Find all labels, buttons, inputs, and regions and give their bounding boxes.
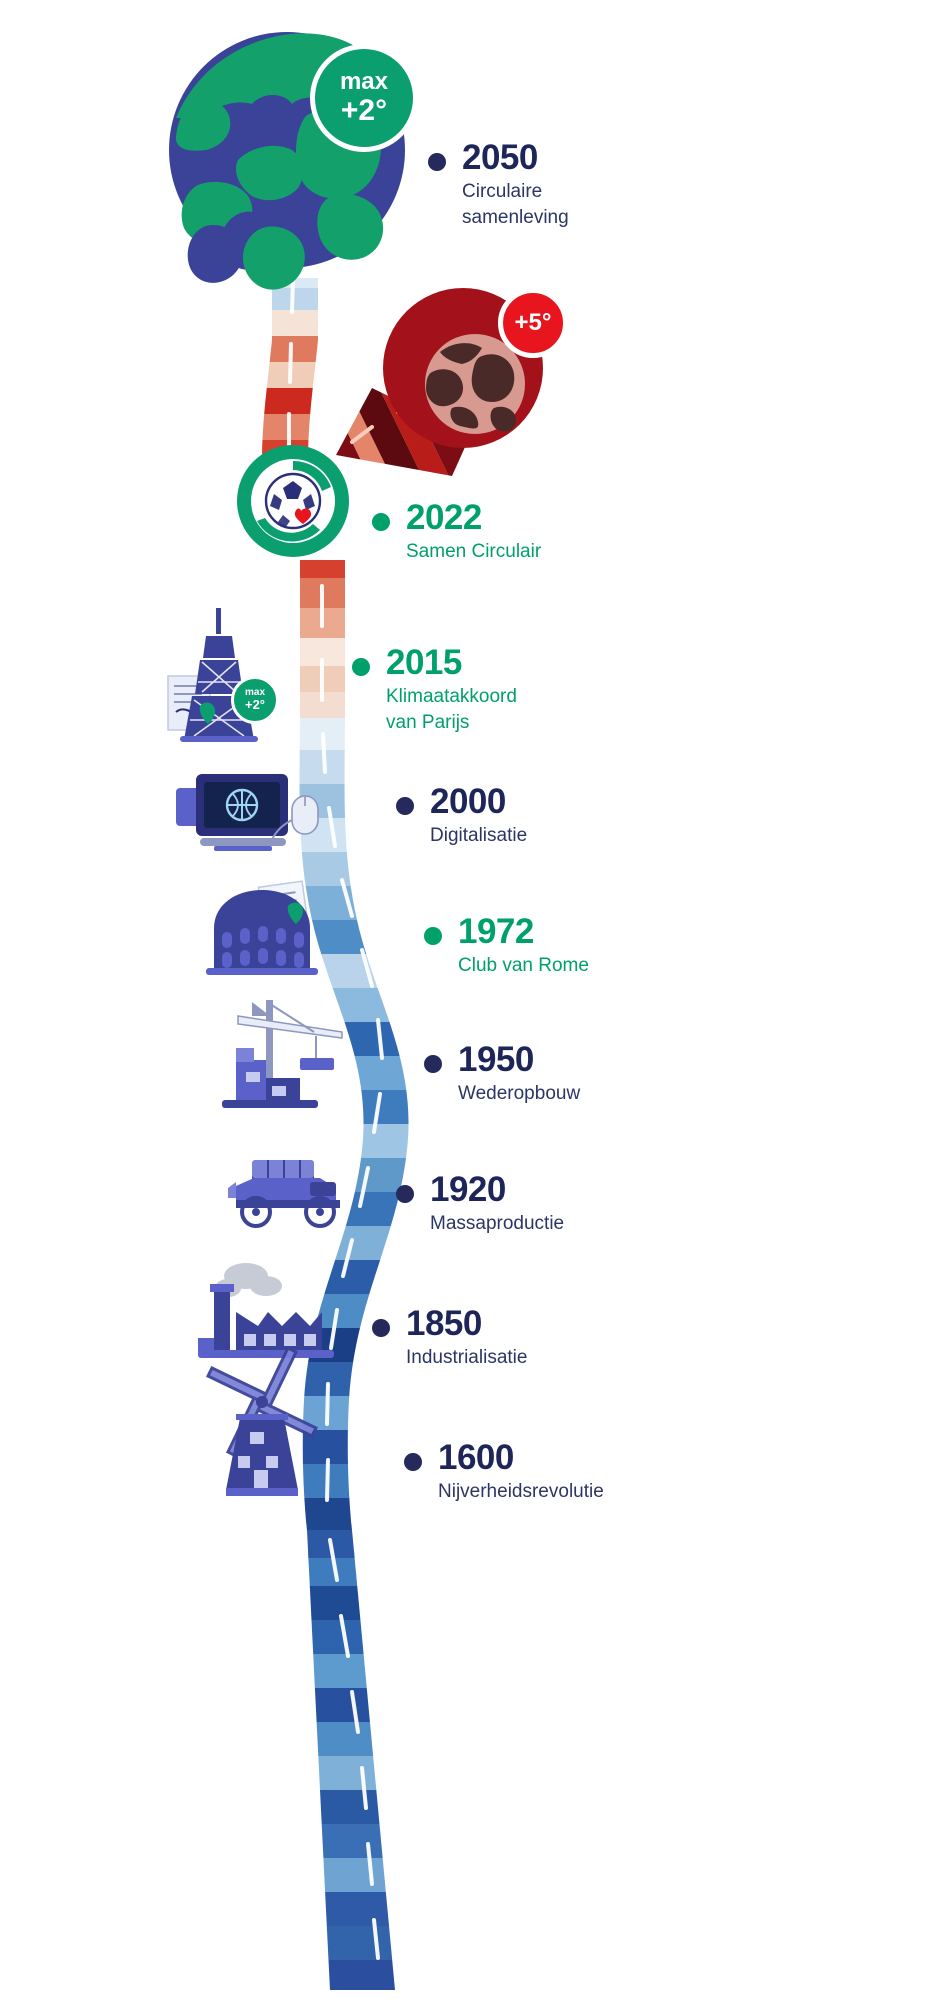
milestone-caption-line2: van Parijs bbox=[386, 711, 517, 734]
milestone-caption-line1: Industrialisatie bbox=[406, 1346, 527, 1369]
milestone-dot bbox=[352, 658, 370, 676]
milestone-year: 1600 bbox=[438, 1440, 604, 1477]
milestone-1920[interactable]: 1920 Massaproductie bbox=[396, 1172, 564, 1235]
badge-max-2-degrees: max +2° bbox=[310, 44, 418, 152]
milestone-year: 2050 bbox=[462, 140, 569, 177]
soccer-ball-heart-logo-icon bbox=[237, 445, 349, 557]
badge-2deg-line2: +2° bbox=[341, 95, 387, 127]
milestone-caption-line1: Circulaire bbox=[462, 180, 569, 203]
milestone-dot bbox=[404, 1453, 422, 1471]
milestone-1950[interactable]: 1950 Wederopbouw bbox=[424, 1042, 580, 1105]
infographic-canvas: max +2° +5° max +2° 2050 Circulaire same… bbox=[0, 0, 933, 2000]
milestone-1600[interactable]: 1600 Nijverheidsrevolutie bbox=[404, 1440, 604, 1503]
milestone-year: 1950 bbox=[458, 1042, 580, 1079]
badge-plus-5-degrees: +5° bbox=[498, 288, 568, 358]
milestone-year: 1920 bbox=[430, 1172, 564, 1209]
milestone-dot bbox=[372, 513, 390, 531]
milestone-year: 2022 bbox=[406, 500, 541, 537]
warming-stripes-road bbox=[0, 0, 933, 2000]
milestone-caption-line1: Klimaatakkoord bbox=[386, 685, 517, 708]
stripe-band-1600-1700 bbox=[280, 1518, 440, 1994]
milestone-year: 1972 bbox=[458, 914, 589, 951]
milestone-caption-line1: Massaproductie bbox=[430, 1212, 564, 1235]
milestone-year: 2000 bbox=[430, 784, 527, 821]
milestone-2000[interactable]: 2000 Digitalisatie bbox=[396, 784, 527, 847]
milestone-caption-line1: Wederopbouw bbox=[458, 1082, 580, 1105]
milestone-dot bbox=[424, 1055, 442, 1073]
computer-monitor-globe-icon bbox=[176, 774, 318, 851]
milestone-caption-line2: samenleving bbox=[462, 206, 569, 229]
milestone-caption-line1: Club van Rome bbox=[458, 954, 589, 977]
vintage-car-icon bbox=[228, 1160, 340, 1226]
colosseum-document-icon bbox=[206, 881, 318, 975]
windmill-icon bbox=[208, 1348, 316, 1496]
milestone-dot bbox=[424, 927, 442, 945]
milestone-2050[interactable]: 2050 Circulaire samenleving bbox=[428, 140, 569, 229]
milestone-2022[interactable]: 2022 Samen Circulair bbox=[372, 500, 541, 563]
milestone-year: 1850 bbox=[406, 1306, 527, 1343]
milestone-caption-line1: Digitalisatie bbox=[430, 824, 527, 847]
badge-mini-line2: +2° bbox=[245, 698, 265, 712]
construction-crane-icon bbox=[222, 1000, 342, 1108]
factory-smokestack-icon bbox=[198, 1263, 334, 1358]
milestone-dot bbox=[372, 1319, 390, 1337]
badge-5deg-label: +5° bbox=[515, 309, 552, 337]
milestone-1972[interactable]: 1972 Club van Rome bbox=[424, 914, 589, 977]
milestone-1850[interactable]: 1850 Industrialisatie bbox=[372, 1306, 527, 1369]
milestone-dot bbox=[396, 797, 414, 815]
milestone-dot bbox=[396, 1185, 414, 1203]
badge-2deg-line1: max bbox=[340, 69, 388, 95]
milestone-2015[interactable]: 2015 Klimaatakkoord van Parijs bbox=[352, 645, 517, 734]
milestone-caption-line1: Nijverheidsrevolutie bbox=[438, 1480, 604, 1503]
milestone-caption-line1: Samen Circulair bbox=[406, 540, 541, 563]
milestone-year: 2015 bbox=[386, 645, 517, 682]
milestone-dot bbox=[428, 153, 446, 171]
badge-paris-max-2-degrees: max +2° bbox=[231, 676, 279, 724]
